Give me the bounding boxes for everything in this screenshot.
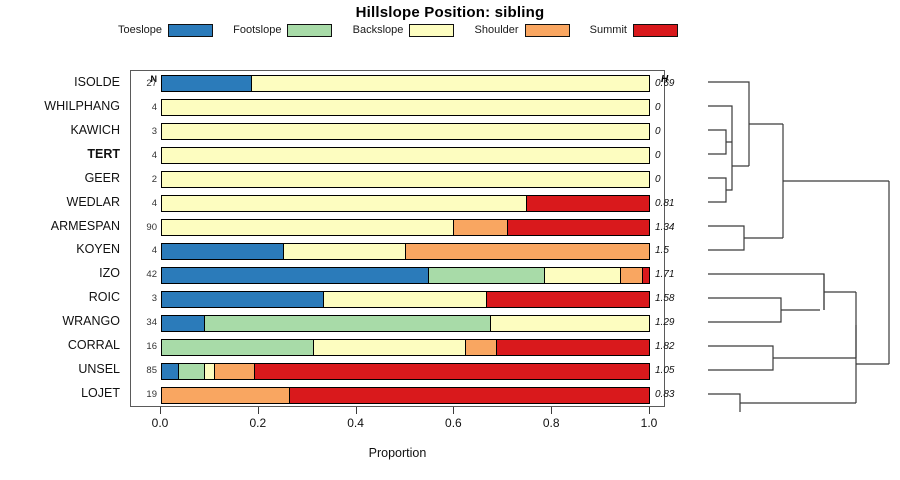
bar-segment-toeslope[interactable]	[162, 292, 324, 307]
bar-row: 40.81	[131, 195, 664, 212]
n-value: 3	[131, 126, 157, 137]
n-value: 4	[131, 198, 157, 209]
n-value: 42	[131, 269, 157, 280]
x-axis-tick-label: 1.0	[624, 416, 674, 430]
bar-row: 270.69	[131, 75, 664, 92]
n-value: 16	[131, 341, 157, 352]
stacked-bar[interactable]	[161, 171, 650, 188]
n-value: 4	[131, 102, 157, 113]
h-value: 0.81	[655, 198, 695, 209]
x-axis-tick-label: 0.6	[428, 416, 478, 430]
bar-segment-summit[interactable]	[497, 340, 649, 355]
h-value: 0.69	[655, 78, 695, 89]
bar-segment-summit[interactable]	[255, 364, 648, 379]
bar-row: 20	[131, 171, 664, 188]
legend-label: Toeslope	[118, 24, 162, 36]
bar-segment-footslope[interactable]	[429, 268, 545, 283]
stacked-bar[interactable]	[161, 267, 650, 284]
x-axis-tick	[551, 407, 552, 414]
dendrogram-branches	[708, 82, 889, 412]
bar-row: 161.82	[131, 339, 664, 356]
x-axis-tick-label: 0.8	[526, 416, 576, 430]
bar-row: 30	[131, 123, 664, 140]
bar-row: 40	[131, 147, 664, 164]
bar-segment-backslope[interactable]	[162, 220, 454, 235]
legend-item-summit: Summit	[590, 24, 678, 37]
h-value: 1.82	[655, 341, 695, 352]
dendrogram	[700, 62, 896, 412]
bar-row: 901.34	[131, 219, 664, 236]
stacked-bar[interactable]	[161, 75, 650, 92]
bar-row: 41.5	[131, 243, 664, 260]
h-value: 0	[655, 150, 695, 161]
legend-item-toeslope: Toeslope	[118, 24, 213, 37]
y-axis-label-unsel: UNSEL	[0, 362, 120, 376]
h-value: 1.34	[655, 222, 695, 233]
stacked-bar[interactable]	[161, 219, 650, 236]
stacked-bar[interactable]	[161, 291, 650, 308]
bar-rows: 270.694030402040.81901.3441.5421.7131.58…	[131, 71, 664, 406]
x-axis-tick-label: 0.4	[331, 416, 381, 430]
n-value: 27	[131, 78, 157, 89]
x-axis-tick-label: 0.2	[233, 416, 283, 430]
stacked-bar[interactable]	[161, 195, 650, 212]
bar-segment-footslope[interactable]	[162, 340, 314, 355]
bar-segment-toeslope[interactable]	[162, 76, 252, 91]
bar-segment-backslope[interactable]	[252, 76, 649, 91]
bar-segment-shoulder[interactable]	[162, 388, 290, 403]
bar-segment-shoulder[interactable]	[466, 340, 496, 355]
y-axis-label-kawich: KAWICH	[0, 123, 120, 137]
legend: ToeslopeFootslopeBackslopeShoulderSummit	[118, 22, 678, 38]
n-value: 90	[131, 222, 157, 233]
stacked-bar[interactable]	[161, 243, 650, 260]
bar-segment-backslope[interactable]	[162, 172, 649, 187]
n-value: 4	[131, 150, 157, 161]
x-axis-title: Proportion	[130, 446, 665, 460]
y-axis-label-corral: CORRAL	[0, 338, 120, 352]
stacked-bar[interactable]	[161, 147, 650, 164]
y-axis-label-wrango: WRANGO	[0, 314, 120, 328]
h-value: 0	[655, 174, 695, 185]
bar-row: 341.29	[131, 315, 664, 332]
stacked-bar[interactable]	[161, 123, 650, 140]
h-value: 1.5	[655, 245, 695, 256]
bar-row: 851.05	[131, 363, 664, 380]
h-value: 1.71	[655, 269, 695, 280]
n-value: 3	[131, 293, 157, 304]
legend-swatch	[409, 24, 454, 37]
h-value: 0	[655, 126, 695, 137]
bar-segment-backslope[interactable]	[284, 244, 406, 259]
bar-segment-summit[interactable]	[508, 220, 649, 235]
n-value: 85	[131, 365, 157, 376]
legend-swatch	[525, 24, 570, 37]
x-axis-tick	[649, 407, 650, 414]
y-axis-labels: ISOLDEWHILPHANGKAWICHTERTGEERWEDLARARMES…	[0, 70, 126, 407]
bar-row: 190.83	[131, 387, 664, 404]
bar-segment-shoulder[interactable]	[406, 244, 650, 259]
bar-segment-backslope[interactable]	[162, 100, 649, 115]
n-value: 34	[131, 317, 157, 328]
stacked-bar[interactable]	[161, 363, 650, 380]
y-axis-label-roic: ROIC	[0, 290, 120, 304]
bar-segment-summit[interactable]	[290, 388, 649, 403]
y-axis-label-tert: TERT	[0, 147, 120, 161]
legend-label: Footslope	[233, 24, 281, 36]
bar-segment-shoulder[interactable]	[621, 268, 643, 283]
legend-item-backslope: Backslope	[353, 24, 455, 37]
page-title: Hillslope Position: sibling	[0, 4, 900, 21]
legend-swatch	[633, 24, 678, 37]
legend-label: Backslope	[353, 24, 404, 36]
y-axis-label-lojet: LOJET	[0, 386, 120, 400]
bar-segment-shoulder[interactable]	[454, 220, 508, 235]
x-axis-tick	[356, 407, 357, 414]
legend-item-footslope: Footslope	[233, 24, 332, 37]
bar-segment-toeslope[interactable]	[162, 364, 179, 379]
bar-segment-summit[interactable]	[487, 292, 649, 307]
bar-segment-toeslope[interactable]	[162, 268, 429, 283]
n-value: 19	[131, 389, 157, 400]
x-axis: 0.00.20.40.60.81.0	[130, 407, 665, 447]
y-axis-label-whilphang: WHILPHANG	[0, 99, 120, 113]
stacked-bar[interactable]	[161, 99, 650, 116]
legend-swatch	[168, 24, 213, 37]
stacked-bar[interactable]	[161, 387, 650, 404]
bar-segment-backslope[interactable]	[162, 196, 527, 211]
y-axis-label-armespan: ARMESPAN	[0, 219, 120, 233]
h-value: 0.83	[655, 389, 695, 400]
bar-segment-backslope[interactable]	[491, 316, 649, 331]
bar-segment-summit[interactable]	[643, 268, 649, 283]
legend-swatch	[287, 24, 332, 37]
bar-row: 421.71	[131, 267, 664, 284]
y-axis-label-koyen: KOYEN	[0, 242, 120, 256]
legend-label: Summit	[590, 24, 627, 36]
stacked-bar[interactable]	[161, 315, 650, 332]
h-value: 0	[655, 102, 695, 113]
bar-segment-backslope[interactable]	[324, 292, 487, 307]
h-value: 1.05	[655, 365, 695, 376]
bar-segment-summit[interactable]	[527, 196, 649, 211]
bar-segment-footslope[interactable]	[205, 316, 491, 331]
bar-segment-backslope[interactable]	[205, 364, 215, 379]
stacked-bar-plot-panel: N H 270.694030402040.81901.3441.5421.713…	[130, 70, 665, 407]
n-value: 4	[131, 245, 157, 256]
x-axis-tick-label: 0.0	[135, 416, 185, 430]
h-value: 1.29	[655, 317, 695, 328]
y-axis-label-izo: IZO	[0, 266, 120, 280]
h-value: 1.58	[655, 293, 695, 304]
bar-row: 31.58	[131, 291, 664, 308]
bar-segment-shoulder[interactable]	[215, 364, 256, 379]
bar-row: 40	[131, 99, 664, 116]
legend-label: Shoulder	[475, 24, 519, 36]
y-axis-label-wedlar: WEDLAR	[0, 195, 120, 209]
x-axis-tick	[258, 407, 259, 414]
y-axis-label-geer: GEER	[0, 171, 120, 185]
stacked-bar[interactable]	[161, 339, 650, 356]
legend-item-shoulder: Shoulder	[475, 24, 570, 37]
dendrogram-svg	[700, 62, 896, 412]
y-axis-label-isolde: ISOLDE	[0, 75, 120, 89]
bar-segment-backslope[interactable]	[162, 148, 649, 163]
bar-segment-backslope[interactable]	[545, 268, 621, 283]
n-value: 2	[131, 174, 157, 185]
bar-segment-backslope[interactable]	[162, 124, 649, 139]
x-axis-tick	[453, 407, 454, 414]
bar-segment-footslope[interactable]	[179, 364, 205, 379]
x-axis-tick	[160, 407, 161, 414]
bar-segment-toeslope[interactable]	[162, 316, 205, 331]
bar-segment-backslope[interactable]	[314, 340, 466, 355]
bar-segment-toeslope[interactable]	[162, 244, 284, 259]
